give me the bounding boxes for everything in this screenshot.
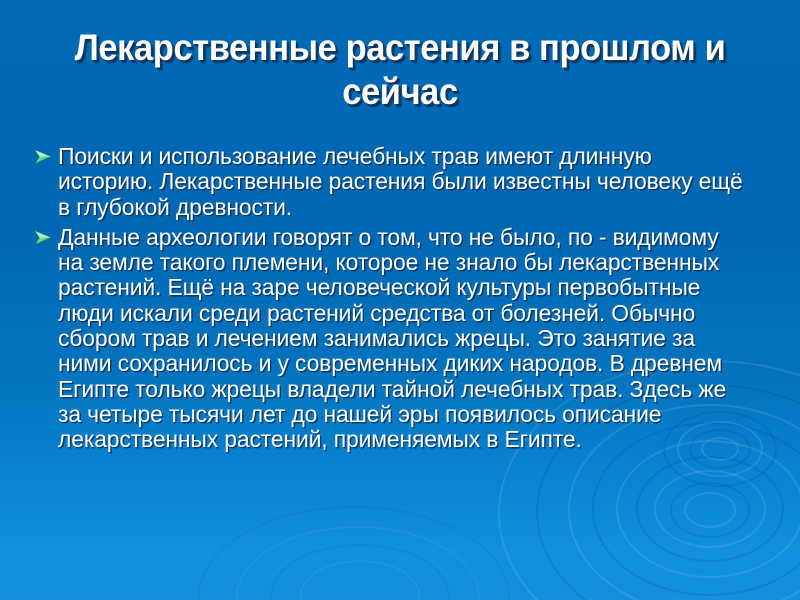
bullet-text: Данные археологии говорят о том, что не … [58, 225, 746, 453]
ripple-group-faint [180, 500, 480, 600]
bullet-text: Поиски и использование лечебных трав име… [58, 144, 746, 220]
arrow-bullet-icon [34, 225, 58, 246]
slide-title: Лекарственные растения в прошлом и сейча… [75, 26, 726, 114]
arrow-bullet-icon [34, 144, 58, 165]
bullet-item: Данные археологии говорят о том, что не … [34, 225, 764, 453]
slide-body: Поиски и использование лечебных трав име… [34, 144, 764, 458]
presentation-slide: Лекарственные растения в прошлом и сейча… [0, 0, 800, 600]
bullet-item: Поиски и использование лечебных трав име… [34, 144, 764, 220]
